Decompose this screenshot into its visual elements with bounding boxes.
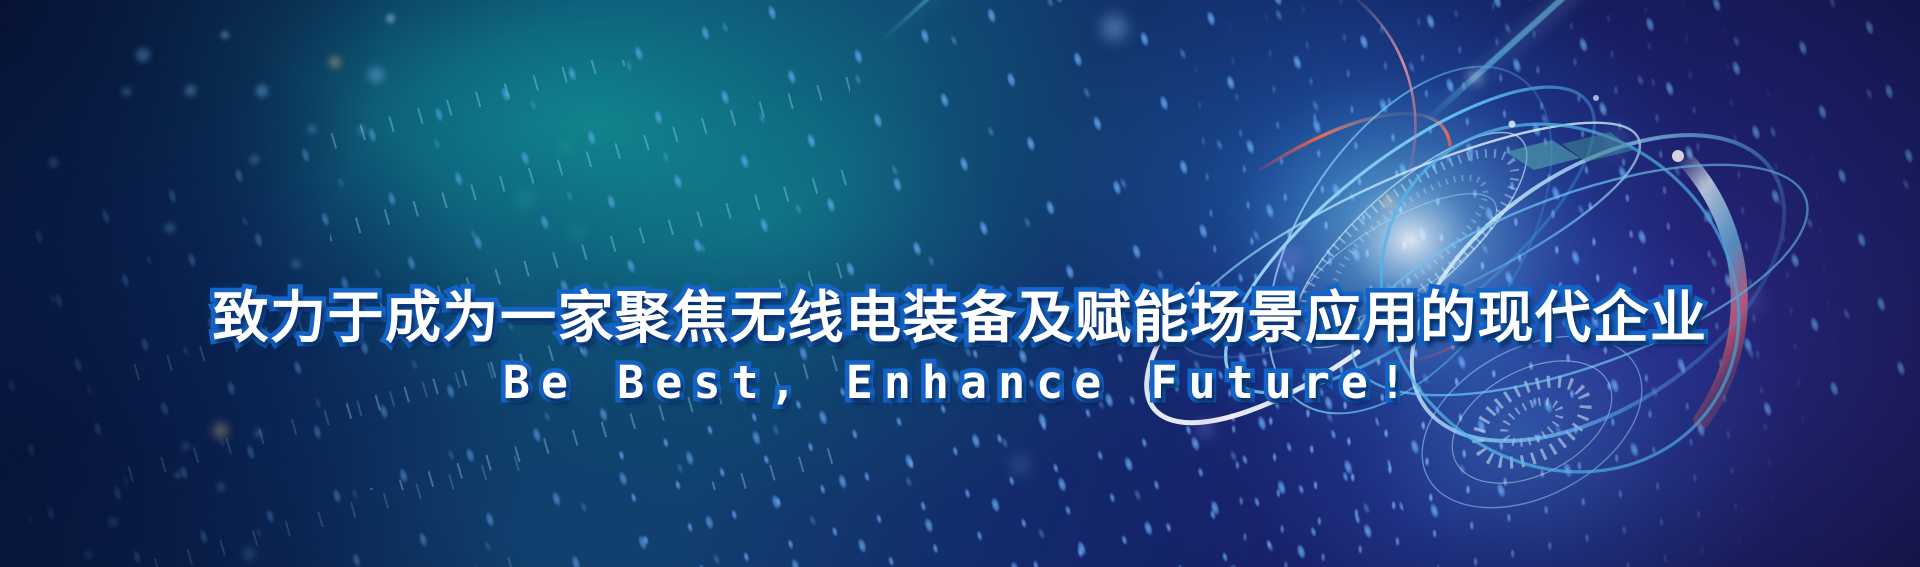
- bokeh-13-light: [165, 223, 175, 233]
- orbital-sphere-graphic: [1080, 0, 1800, 567]
- bokeh-28-light: [1010, 455, 1030, 475]
- bokeh-18-light: [182, 443, 189, 450]
- bokeh-4-light: [221, 31, 229, 39]
- beam-5: [879, 0, 1268, 43]
- bokeh-9-light: [122, 87, 131, 96]
- bokeh-11-light: [358, 126, 365, 133]
- bokeh-35-light: [1468, 70, 1482, 84]
- right-arc-graphic: [1330, 0, 1920, 567]
- bokeh-24-light: [516, 190, 534, 208]
- pink-accent-arc: [1344, 0, 1415, 176]
- bokeh-6-light: [368, 67, 384, 83]
- bokeh-16-light: [214, 424, 227, 437]
- banner-headline-chinese: 致力于成为一家聚焦无线电装备及赋能场景应用的现代企业: [0, 286, 1920, 350]
- bokeh-32-light: [1196, 420, 1214, 438]
- node-highlight-2: [1509, 121, 1516, 128]
- background-teal-glow: [0, 0, 1920, 567]
- node-highlight-1: [1672, 150, 1684, 162]
- bokeh-17-light: [255, 430, 262, 437]
- particle-dot-field-main: [0, 0, 1920, 567]
- bokeh-33-light: [1382, 196, 1394, 208]
- bokeh-10-light: [308, 125, 316, 133]
- bokeh-14-light: [49, 158, 58, 167]
- teal-chevrons: [1506, 132, 1634, 170]
- beam-6: [1422, 0, 1812, 125]
- background-base-gradient: [0, 0, 1920, 567]
- bokeh-1-light: [1101, 15, 1127, 41]
- background-teal-glow-inner: [0, 0, 1920, 567]
- bokeh-25-light: [560, 140, 573, 153]
- bokeh-26-light: [570, 225, 584, 239]
- background-vignette: [0, 0, 1920, 567]
- bokeh-12-light: [250, 155, 259, 164]
- bokeh-22-light: [243, 548, 255, 560]
- bokeh-21-light: [109, 518, 117, 526]
- bokeh-20-light: [217, 483, 225, 491]
- beam-6-glow: [1416, 0, 1818, 134]
- bokeh-3-light: [136, 48, 150, 62]
- bokeh-19-light: [175, 472, 181, 478]
- bokeh-23-light: [85, 551, 92, 558]
- bokeh-2-light: [386, 14, 395, 23]
- bokeh-15-light: [292, 260, 300, 268]
- background-navy-vignette: [0, 0, 1920, 567]
- background-cyan-core-glow: [0, 0, 1920, 567]
- bokeh-7-light: [185, 85, 196, 96]
- banner-tagline-english: Be Best, Enhance Future!: [0, 356, 1920, 410]
- dash-streak-field-upper: [330, 60, 850, 490]
- banner-text-block: 致力于成为一家聚焦无线电装备及赋能场景应用的现代企业 Be Best, Enha…: [0, 286, 1920, 410]
- beam-5-glow: [873, 0, 1274, 52]
- particle-dot-field-sparse: [0, 0, 1920, 567]
- bokeh-30-light: [1600, 128, 1628, 156]
- node-highlight-3: [1593, 95, 1599, 101]
- bokeh-5-light: [256, 85, 268, 97]
- orbit-accent-coral-1: [1260, 113, 1450, 170]
- background-violet-glow: [0, 0, 1920, 567]
- particle-dot-field-right: [1172, 0, 1920, 567]
- bokeh-29-light: [1278, 247, 1300, 269]
- bokeh-8-light: [330, 57, 340, 67]
- hero-banner: 致力于成为一家聚焦无线电装备及赋能场景应用的现代企业 Be Best, Enha…: [0, 0, 1920, 567]
